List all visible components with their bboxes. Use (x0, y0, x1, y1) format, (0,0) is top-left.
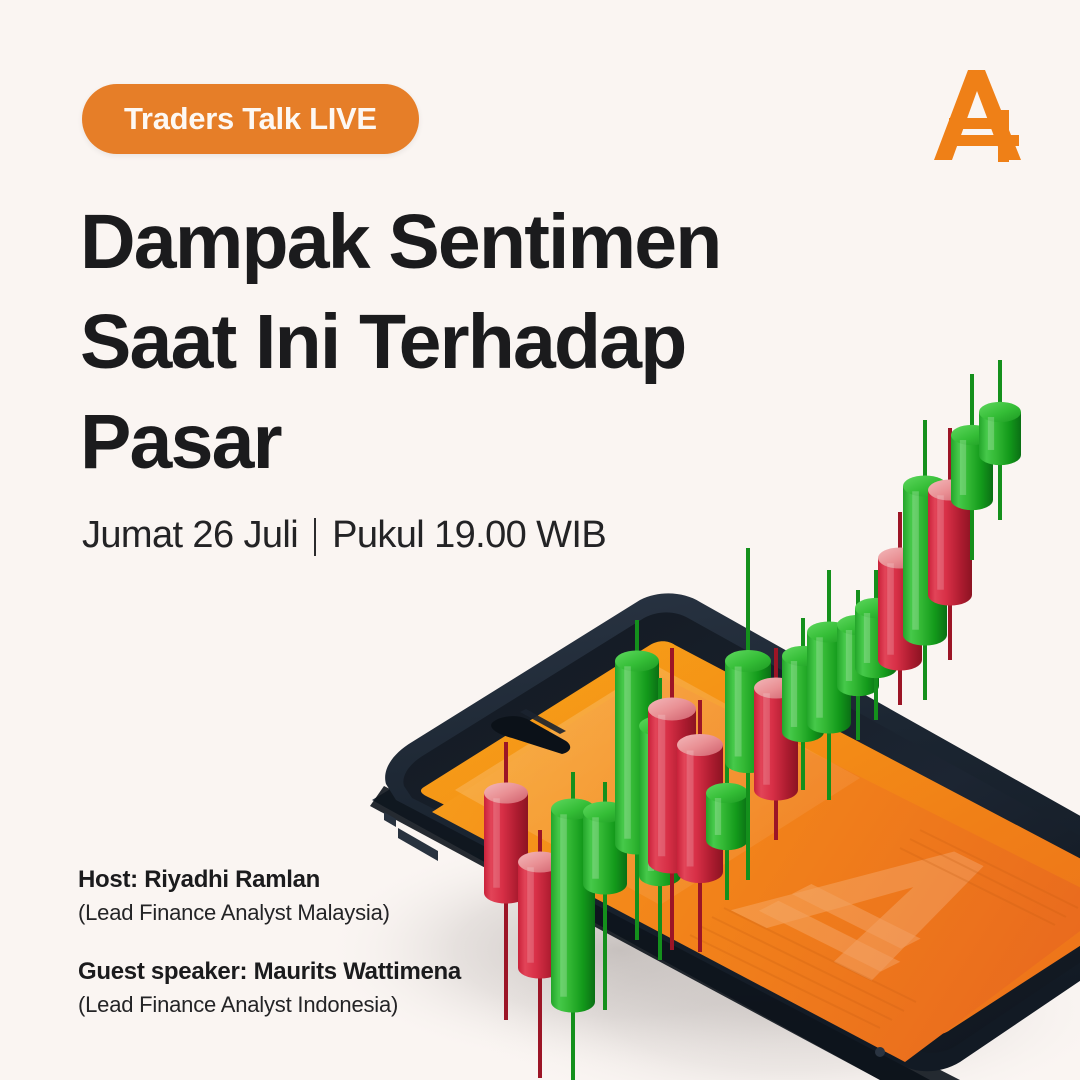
candle-highlight (560, 814, 567, 996)
candle-top-cap (706, 783, 748, 803)
candle-highlight (527, 867, 534, 962)
candle-highlight (887, 563, 894, 654)
guest-name: Guest speaker: Maurits Wattimena (78, 958, 461, 986)
event-time: Pukul 19.00 WIB (332, 514, 606, 557)
guest-credit: Guest speaker: Maurits Wattimena (Lead F… (78, 958, 461, 1018)
candle-highlight (960, 440, 966, 495)
a-letter-icon (934, 70, 1021, 162)
candle-highlight (592, 817, 599, 878)
candle-highlight (791, 661, 797, 727)
candle-highlight (735, 667, 742, 757)
headline-line-3: Pasar (80, 392, 800, 492)
host-role: (Lead Finance Analyst Malaysia) (78, 900, 461, 926)
candle-highlight (937, 495, 944, 589)
speakers-block: Host: Riyadhi Ramlan (Lead Finance Analy… (78, 866, 461, 1018)
candle-highlight (493, 798, 500, 887)
candle-highlight (687, 751, 694, 867)
candle-highlight (912, 491, 919, 629)
candle-highlight (624, 666, 631, 838)
candle-highlight (816, 637, 823, 717)
candle-top-cap (677, 734, 723, 756)
host-name: Host: Riyadhi Ramlan (78, 866, 461, 894)
candle-highlight (763, 693, 770, 784)
event-datetime: Jumat 26 Juli Pukul 19.00 WIB (82, 514, 606, 557)
candle-top-cap (979, 402, 1021, 422)
live-badge-label: Traders Talk LIVE (124, 101, 377, 137)
candle-top-cap (615, 650, 659, 671)
candle-top-cap (725, 650, 771, 672)
candle-highlight (846, 630, 852, 681)
host-credit: Host: Riyadhi Ramlan (Lead Finance Analy… (78, 866, 461, 926)
candle-highlight (658, 715, 665, 856)
headline-line-1: Dampak Sentimen (80, 192, 800, 292)
brand-logo (922, 60, 1032, 170)
guest-role: (Lead Finance Analyst Indonesia) (78, 992, 461, 1018)
candle-top-cap (484, 782, 528, 803)
datetime-separator (314, 518, 316, 556)
event-date: Jumat 26 Juli (82, 514, 298, 557)
live-badge[interactable]: Traders Talk LIVE (82, 84, 419, 154)
candle-highlight (715, 798, 721, 835)
poster-canvas: Traders Talk LIVE Dampak Sentimen Saat I… (0, 0, 1080, 1080)
candle-highlight (988, 417, 994, 450)
headline-line-2: Saat Ini Terhadap (80, 292, 800, 392)
page-title: Dampak Sentimen Saat Ini Terhadap Pasar (80, 192, 800, 492)
candle-top-cap (648, 697, 696, 720)
candle-highlight (864, 613, 870, 663)
